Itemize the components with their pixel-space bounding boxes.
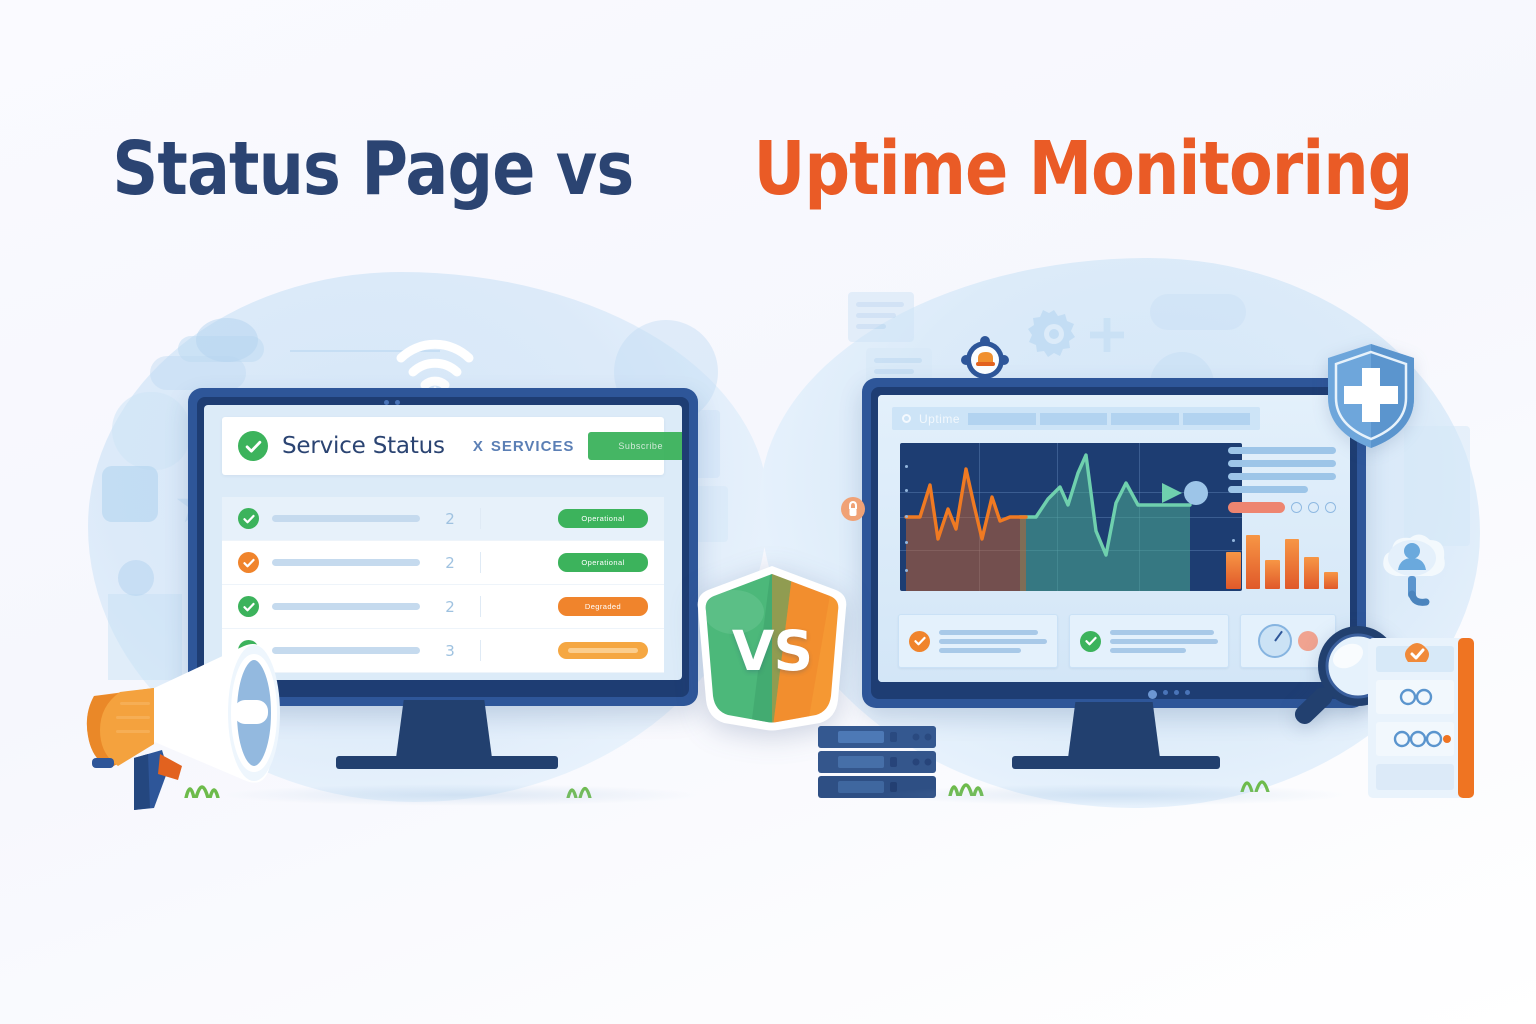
table-row[interactable]: 2 Operational [222,497,664,541]
vs-label: VS [686,560,858,735]
bar [1226,552,1241,589]
illustration-canvas: Status Page vs Uptime Monitoring Service… [0,0,1536,1024]
vs-badge: VS [686,560,858,735]
axis-tick [905,569,908,572]
page-title-part1: Status Page vs [112,126,633,212]
axis-tick [905,515,908,518]
dashboard-card[interactable] [898,614,1058,668]
dashboard-card[interactable] [1069,614,1229,668]
row-name-placeholder [272,603,420,610]
background-gear-left-icon [118,560,154,596]
check-circle-icon [909,631,930,652]
ring-icon [1325,502,1336,513]
summary-line [1228,486,1308,493]
target-badge-icon [960,336,1010,384]
header-placeholder-blocks [968,413,1250,425]
status-badge [558,642,648,659]
monitor-led-dots-right [1148,690,1190,699]
page-title: Status Page vs Uptime Monitoring [0,126,1536,212]
brand-label: SERVICES [491,438,575,455]
check-circle-icon [238,431,268,461]
status-badge: Operational [558,509,648,528]
check-circle-icon [1080,631,1101,652]
background-cloud-right-icon [1150,294,1246,330]
ground-shadow [880,784,1350,806]
background-tree-icon [112,392,190,470]
ring-icon [1291,502,1302,513]
subscribe-button[interactable]: Subscribe [588,432,682,460]
check-circle-icon [238,552,259,573]
cloud-user-icon [1372,528,1452,608]
axis-tick [905,465,908,468]
bar [1324,572,1339,589]
row-count: 3 [433,642,467,660]
uptime-waveform-chart [900,443,1242,591]
bar [1285,539,1300,589]
background-puzzle-icon [102,466,158,522]
dashboard-card-row [898,614,1336,668]
monitor-neck-left [396,700,492,758]
status-badge: Degraded [558,597,648,616]
row-divider [480,552,481,573]
bar [1246,535,1261,589]
service-status-title: Service Status [282,433,445,459]
summary-line [1228,473,1336,480]
monitor-neck-right [1068,702,1160,758]
row-count: 2 [433,554,467,572]
monitor-base-left [336,756,558,769]
shield-health-icon [1322,340,1420,452]
dashboard-title: Uptime [919,412,960,426]
bar [1265,560,1280,589]
summary-line [1228,460,1336,467]
card-placeholder-lines [1110,630,1218,653]
background-cloud-shape-2 [196,318,258,362]
server-rack-icon [1362,632,1480,804]
row-divider [480,508,481,529]
axis-tick [905,489,908,492]
card-placeholder-lines [939,630,1047,653]
ring-icon [1308,502,1319,513]
status-badge: Operational [558,553,648,572]
row-name-placeholder [272,515,420,522]
row-name-placeholder [272,559,420,566]
check-circle-icon [238,596,259,617]
row-count: 2 [433,598,467,616]
dashboard-body: Uptime [878,395,1350,682]
check-circle-icon [238,508,259,529]
incident-bar-chart [1226,523,1338,589]
row-count: 2 [433,510,467,528]
service-brand: X SERVICES [473,438,575,455]
status-dot-icon [902,414,911,423]
lock-icon [840,496,866,522]
ground-shadow [220,784,700,806]
summary-status-row [1228,502,1336,513]
service-status-header-card: Service Status X SERVICES Subscribe [222,417,664,475]
table-row[interactable]: 2 Operational [222,541,664,585]
bar [1304,557,1319,589]
page-title-part2: Uptime Monitoring [754,126,1413,212]
alert-bar [1228,502,1285,513]
uptime-dashboard-screen: Uptime [878,395,1350,682]
chart-series-paths [900,443,1242,591]
dashboard-side-summary [1228,447,1336,513]
axis-tick [905,541,908,544]
brand-x-icon: X [473,438,484,455]
row-divider [480,640,481,661]
monitor-base-right [1012,756,1220,769]
gear-icon [1026,306,1082,362]
dashboard-header-bar: Uptime [892,407,1260,430]
summary-line [1228,447,1336,454]
row-divider [480,596,481,617]
gauge-icon [1258,624,1292,658]
